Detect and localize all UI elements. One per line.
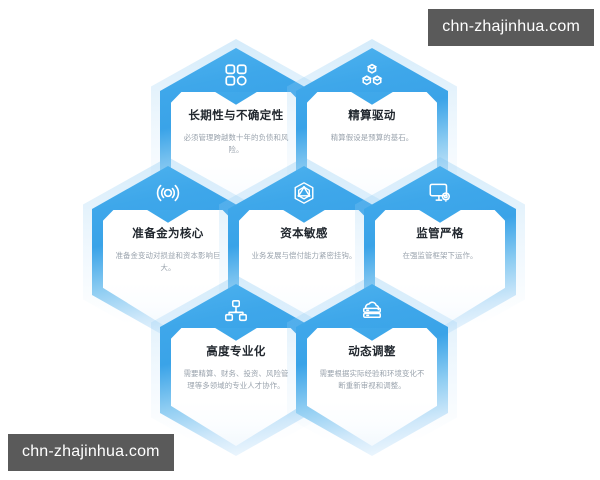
hex-title: 资本敏感 bbox=[242, 228, 366, 242]
hex-title: 精算驱动 bbox=[310, 110, 434, 124]
infographic-canvas: 长期性与不确定性 必须管理跨越数十年的负债和风险。 精算 bbox=[0, 0, 600, 480]
hex-text-block: 高度专业化 需要精算、财务、投资、风险管理等多领域的专业人才协作。 bbox=[174, 346, 298, 392]
hex-text-block: 准备金为核心 准备金变动对损益和资本影响巨大。 bbox=[106, 228, 230, 274]
stacked-cubes-icon bbox=[296, 60, 448, 90]
hexagon-honeycomb-grid: 长期性与不确定性 必须管理跨越数十年的负债和风险。 精算 bbox=[0, 0, 600, 480]
watermark-top-right: chn-zhajinhua.com bbox=[428, 9, 594, 46]
hex-description: 准备金变动对损益和资本影响巨大。 bbox=[106, 250, 230, 274]
hex-text-block: 监管严格 在强监管框架下运作。 bbox=[378, 228, 502, 262]
hex-card-dynamic-adjustment[interactable]: 动态调整 需要根据实际经验和环境变化不断重新审视和调整。 bbox=[296, 284, 448, 456]
hex-description: 必须管理跨越数十年的负债和风险。 bbox=[174, 132, 298, 156]
hex-text-block: 精算驱动 精算假设是预算的基石。 bbox=[310, 110, 434, 144]
hex-description: 需要精算、财务、投资、风险管理等多领域的专业人才协作。 bbox=[174, 368, 298, 392]
watermark-bottom-left: chn-zhajinhua.com bbox=[8, 434, 174, 471]
hex-description: 精算假设是预算的基石。 bbox=[310, 132, 434, 144]
hex-title: 监管严格 bbox=[378, 228, 502, 242]
hex-title: 动态调整 bbox=[310, 346, 434, 360]
cloud-server-icon bbox=[296, 296, 448, 326]
hex-title: 长期性与不确定性 bbox=[174, 110, 298, 124]
hex-title: 高度专业化 bbox=[174, 346, 298, 360]
monitor-gear-icon bbox=[364, 178, 516, 208]
hex-description: 在强监管框架下运作。 bbox=[378, 250, 502, 262]
hex-text-block: 长期性与不确定性 必须管理跨越数十年的负债和风险。 bbox=[174, 110, 298, 156]
hex-text-block: 动态调整 需要根据实际经验和环境变化不断重新审视和调整。 bbox=[310, 346, 434, 392]
hex-text-block: 资本敏感 业务发展与偿付能力紧密挂钩。 bbox=[242, 228, 366, 262]
hex-description: 业务发展与偿付能力紧密挂钩。 bbox=[242, 250, 366, 262]
hex-description: 需要根据实际经验和环境变化不断重新审视和调整。 bbox=[310, 368, 434, 392]
hex-title: 准备金为核心 bbox=[106, 228, 230, 242]
